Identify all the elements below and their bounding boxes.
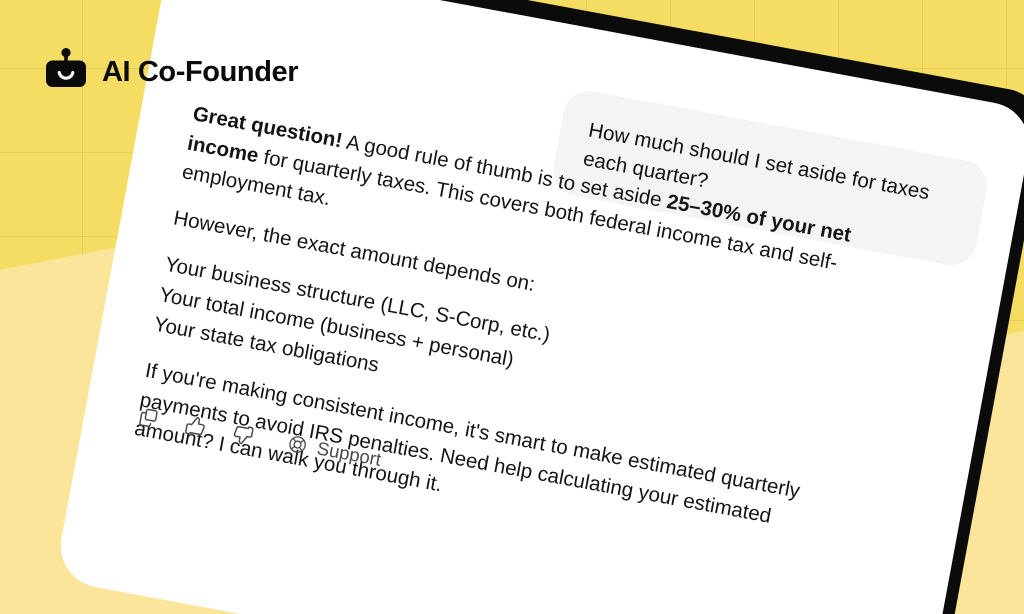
copy-icon[interactable]	[135, 404, 161, 430]
brand-logo[interactable]: AI Co-Founder	[44, 48, 298, 96]
screenshot-stage: AI Co-Founder How much should I set asid…	[0, 0, 1024, 614]
thumbs-up-icon[interactable]	[182, 413, 208, 439]
robot-chat-bubble-icon	[44, 48, 88, 96]
brand-name: AI Co-Founder	[102, 56, 298, 89]
lifebuoy-icon	[285, 432, 311, 458]
thumbs-down-icon[interactable]	[230, 422, 256, 448]
